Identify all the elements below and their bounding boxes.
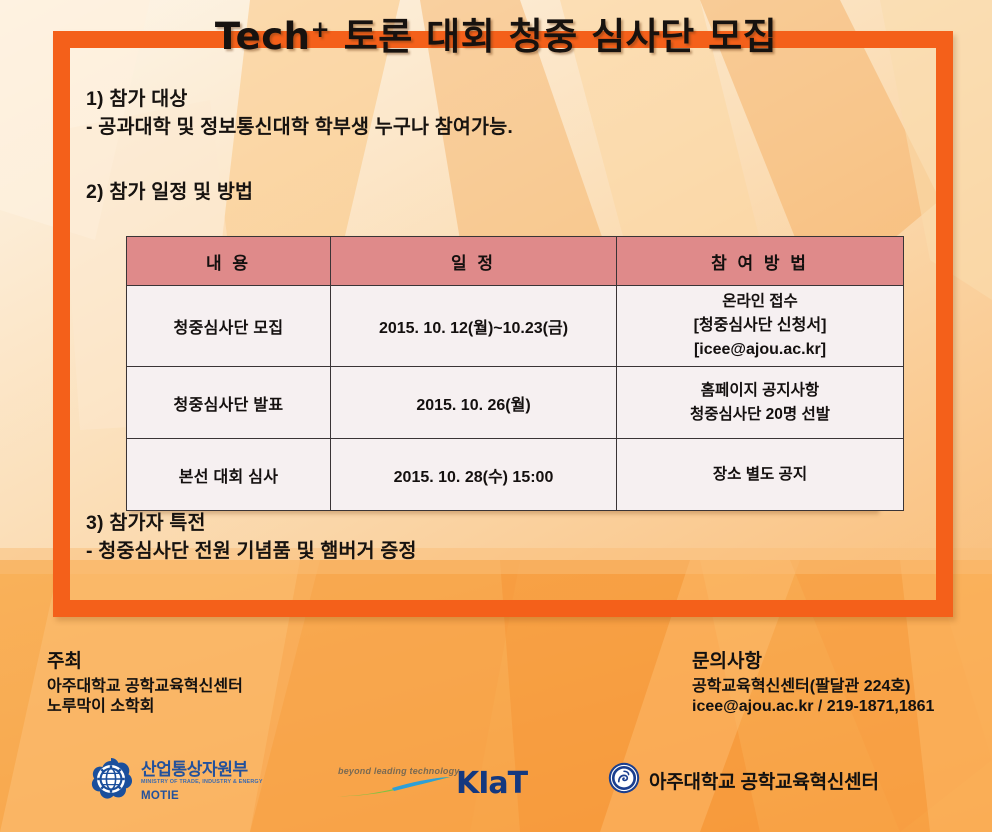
kiat-swoosh-icon xyxy=(334,776,452,803)
schedule-table-head: 내 용 일 정 참 여 방 법 xyxy=(127,237,904,286)
kiat-tagline: beyond leading technology xyxy=(338,766,460,776)
row-3-date: 2015. 10. 28(수) 15:00 xyxy=(331,439,617,511)
motie-emblem-icon xyxy=(88,756,134,807)
page-title: Tech+ 토론 대회 청중 심사단 모집 xyxy=(0,6,992,60)
organizer-title: 주최 xyxy=(47,648,243,677)
spacer-1 xyxy=(86,141,916,179)
table-header-row: 내 용 일 정 참 여 방 법 xyxy=(127,237,904,286)
title-text-rest: 토론 대회 청중 심사단 모집 xyxy=(330,15,777,58)
section-1-heading: 1) 참가 대상 xyxy=(86,86,916,114)
schedule-table-wrapper: 내 용 일 정 참 여 방 법 청중심사단 모집 2015. 10. 12(월)… xyxy=(126,236,876,511)
organizer-line-2: 노루막이 소학회 xyxy=(47,697,243,718)
footer-organizer-block: 주최 아주대학교 공학교육혁신센터 노루막이 소학회 xyxy=(47,648,243,718)
poster-canvas: Tech+ 토론 대회 청중 심사단 모집 1) 참가 대상 - 공과대학 및 … xyxy=(0,0,992,832)
schedule-table-body: 청중심사단 모집 2015. 10. 12(월)~10.23(금) 온라인 접수… xyxy=(127,286,904,511)
section-3-heading: 3) 참가자 특전 xyxy=(86,510,916,538)
contact-line-2: icee@ajou.ac.kr / 219-1871,1861 xyxy=(692,697,934,718)
table-row: 청중심사단 모집 2015. 10. 12(월)~10.23(금) 온라인 접수… xyxy=(127,286,904,367)
logo-motie: 산업통상자원부 MINISTRY OF TRADE, INDUSTRY & EN… xyxy=(88,756,263,807)
section-3-line: - 청중심사단 전원 기념품 및 햄버거 증정 xyxy=(86,538,916,566)
logo-kiat: beyond leading technology KIaT xyxy=(334,764,544,808)
body-content: 1) 참가 대상 - 공과대학 및 정보통신대학 학부생 누구나 참여가능. 2… xyxy=(86,86,916,207)
motie-name-kr: 산업통상자원부 xyxy=(141,761,263,778)
row-2-method-line-1: 홈페이지 공지사항 xyxy=(621,379,899,403)
table-row: 청중심사단 발표 2015. 10. 26(월) 홈페이지 공지사항 청중심사단… xyxy=(127,367,904,439)
column-header-method: 참 여 방 법 xyxy=(617,237,904,286)
row-2-method: 홈페이지 공지사항 청중심사단 20명 선발 xyxy=(617,367,904,439)
kiat-wordmark: KIaT xyxy=(456,766,527,801)
row-1-content: 청중심사단 모집 xyxy=(127,286,331,367)
row-3-method: 장소 별도 공지 xyxy=(617,439,904,511)
ajou-seal-icon xyxy=(608,762,640,799)
organizer-line-1: 아주대학교 공학교육혁신센터 xyxy=(47,677,243,698)
logo-ajou: 아주대학교 공학교육혁신센터 xyxy=(608,762,879,799)
row-3-method-line-1: 장소 별도 공지 xyxy=(621,463,899,487)
sponsor-logo-strip: 산업통상자원부 MINISTRY OF TRADE, INDUSTRY & EN… xyxy=(0,756,992,826)
schedule-table: 내 용 일 정 참 여 방 법 청중심사단 모집 2015. 10. 12(월)… xyxy=(126,236,904,511)
title-superscript-plus: + xyxy=(311,17,331,43)
title-text-main: Tech xyxy=(215,15,311,58)
row-1-method-line-3: [icee@ajou.ac.kr] xyxy=(621,338,899,362)
motie-text-block: 산업통상자원부 MINISTRY OF TRADE, INDUSTRY & EN… xyxy=(141,761,263,803)
row-1-method: 온라인 접수 [청중심사단 신청서] [icee@ajou.ac.kr] xyxy=(617,286,904,367)
section-3-block: 3) 참가자 특전 - 청중심사단 전원 기념품 및 햄버거 증정 xyxy=(86,510,916,565)
ajou-label: 아주대학교 공학교육혁신센터 xyxy=(649,767,879,794)
section-1-line: - 공과대학 및 정보통신대학 학부생 누구나 참여가능. xyxy=(86,114,916,142)
row-3-content: 본선 대회 심사 xyxy=(127,439,331,511)
row-2-content: 청중심사단 발표 xyxy=(127,367,331,439)
row-2-method-line-2: 청중심사단 20명 선발 xyxy=(621,403,899,427)
motie-abbreviation: MOTIE xyxy=(141,791,263,803)
row-1-method-line-2: [청중심사단 신청서] xyxy=(621,314,899,338)
contact-line-1: 공학교육혁신센터(팔달관 224호) xyxy=(692,677,934,698)
row-2-date: 2015. 10. 26(월) xyxy=(331,367,617,439)
row-1-method-line-1: 온라인 접수 xyxy=(621,290,899,314)
column-header-content: 내 용 xyxy=(127,237,331,286)
column-header-date: 일 정 xyxy=(331,237,617,286)
footer-contact-block: 문의사항 공학교육혁신센터(팔달관 224호) icee@ajou.ac.kr … xyxy=(692,648,934,718)
motie-name-en: MINISTRY OF TRADE, INDUSTRY & ENERGY xyxy=(141,780,263,785)
table-row: 본선 대회 심사 2015. 10. 28(수) 15:00 장소 별도 공지 xyxy=(127,439,904,511)
row-1-date: 2015. 10. 12(월)~10.23(금) xyxy=(331,286,617,367)
section-2-heading: 2) 참가 일정 및 방법 xyxy=(86,179,916,207)
contact-title: 문의사항 xyxy=(692,648,934,677)
